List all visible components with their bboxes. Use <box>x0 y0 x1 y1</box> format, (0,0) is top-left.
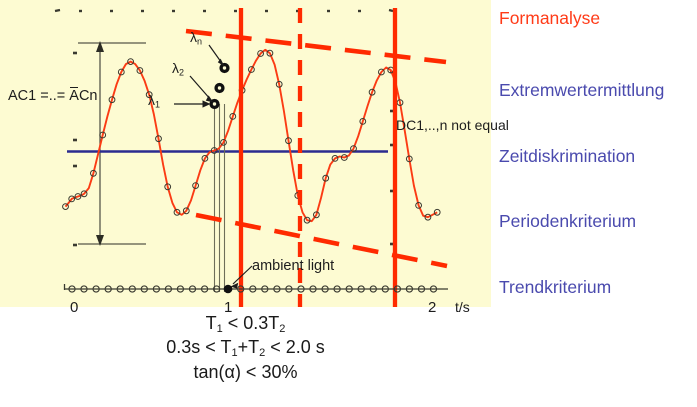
formula2-lower: 0.3s < T <box>166 337 231 357</box>
formula1-rel: < 0.3T <box>223 313 280 333</box>
ac-amplitude-label: AC1 =..= ACn <box>8 88 97 104</box>
formula1-t1: T <box>206 313 217 333</box>
ambient-light-label: ambient light <box>252 258 334 274</box>
criteria-formulas: T1 < 0.3T2 0.3s < T1+T2 < 2.0 s tan(α) <… <box>0 312 491 384</box>
lambda-2-label: λ2 <box>172 60 184 77</box>
ac-label-pre: AC1 =..= <box>8 88 69 104</box>
legend-item-trendkriterium[interactable]: Trendkriterium <box>499 277 611 298</box>
y-axis-ticks <box>73 53 77 245</box>
lambda-1-subscript: 1 <box>155 99 160 109</box>
legend-item-formanalyse[interactable]: Formanalyse <box>499 8 600 29</box>
lambda-2-arrowhead <box>206 95 214 102</box>
formula1-t2-sub: 2 <box>279 323 285 335</box>
ac-label-post: Cn <box>79 88 98 104</box>
signal-chart <box>0 0 491 307</box>
lambda-n-subscript: n <box>197 36 202 46</box>
lambda-2-glyph: λ <box>172 60 179 76</box>
formula2-upper: < 2.0 s <box>265 337 325 357</box>
plot-frame-ticks <box>55 10 393 11</box>
chart-panel: AC1 =..= ACn DC1,..,n not equal ambient … <box>0 0 491 307</box>
legend-item-extremwertermittlung[interactable]: Extremwertermittlung <box>499 80 664 101</box>
ambient-light-point <box>224 285 233 294</box>
lambda-1-arrowhead <box>203 100 211 107</box>
ac-label-a: A <box>69 88 79 104</box>
formula-period-range: 0.3s < T1+T2 < 2.0 s <box>0 336 491 360</box>
legend-item-periodenkriterium[interactable]: Periodenkriterium <box>499 211 636 232</box>
lambda-2-subscript: 2 <box>179 67 184 77</box>
slide-root: AC1 =..= ACn DC1,..,n not equal ambient … <box>0 0 697 407</box>
lambda-1-glyph: λ <box>148 92 155 108</box>
criteria-legend: Formanalyse Extremwertermittlung Zeitdis… <box>499 0 697 307</box>
formula-trend: tan(α) < 30% <box>0 361 491 384</box>
lambda-guide-lines <box>215 104 225 292</box>
legend-item-zeitdiskrimination[interactable]: Zeitdiskrimination <box>499 146 635 167</box>
lambda-n-label: λn <box>190 29 202 46</box>
formula2-plus: +T <box>238 337 260 357</box>
lambda-n-glyph: λ <box>190 29 197 45</box>
dc-not-equal-label: DC1,..,n not equal <box>396 117 509 133</box>
lambda-1-label: λ1 <box>148 92 160 109</box>
signal-waveform <box>66 50 438 221</box>
amplitude-arrow <box>78 43 146 244</box>
formula-period-ratio: T1 < 0.3T2 <box>0 312 491 336</box>
peak-trend-line <box>186 31 446 62</box>
